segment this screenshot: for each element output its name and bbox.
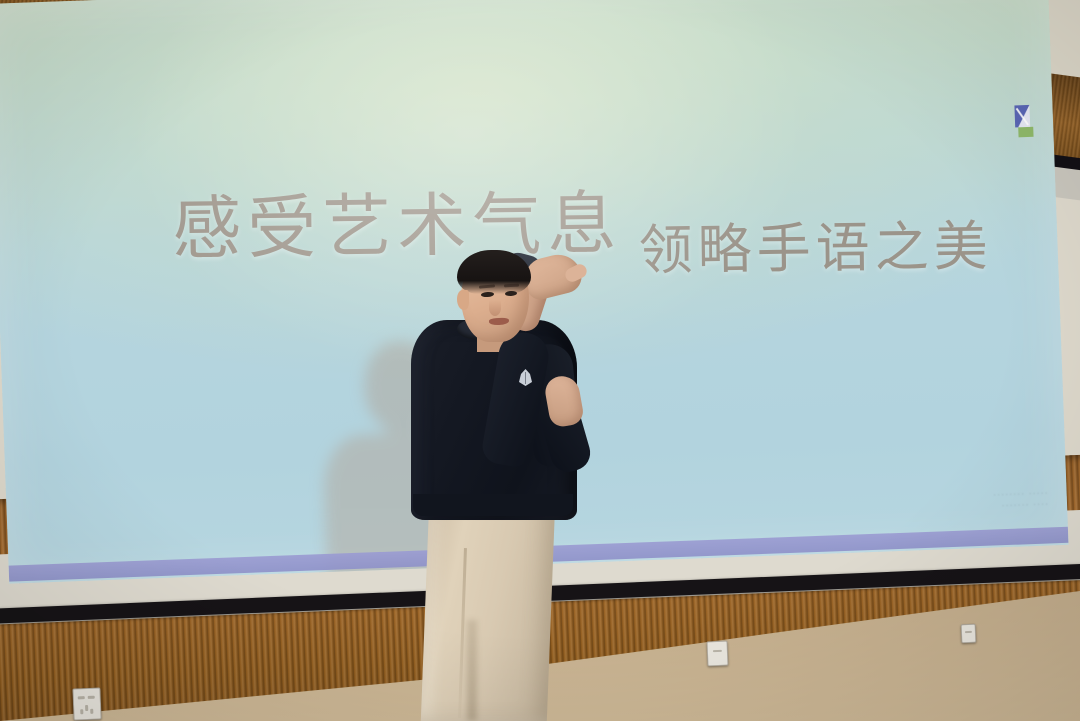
wall-plate-right — [961, 624, 977, 644]
speaker-figure — [395, 248, 665, 721]
slide-credit: ········ ····· ······· ···· — [993, 487, 1049, 511]
speaker-head — [457, 250, 531, 342]
speaker-ear — [457, 290, 469, 310]
wall-plate-mid — [707, 641, 729, 667]
photograph-scene: 感受艺术气息领略手语之美 ········ ····· ······· ···· — [0, 0, 1080, 721]
wall-power-outlet — [72, 687, 101, 720]
speaker-hair — [457, 250, 531, 294]
sweatshirt-hem — [413, 494, 573, 516]
presentation-logo-icon — [1010, 104, 1037, 139]
slide-title-sub: 领略手语之美 — [638, 202, 993, 285]
trouser-inseam — [467, 620, 477, 721]
slide-credit-line-2: ······· ···· — [993, 498, 1049, 511]
chest-emblem-icon — [517, 368, 534, 387]
speaker-trousers — [421, 502, 555, 721]
speaker-nose — [489, 300, 501, 316]
